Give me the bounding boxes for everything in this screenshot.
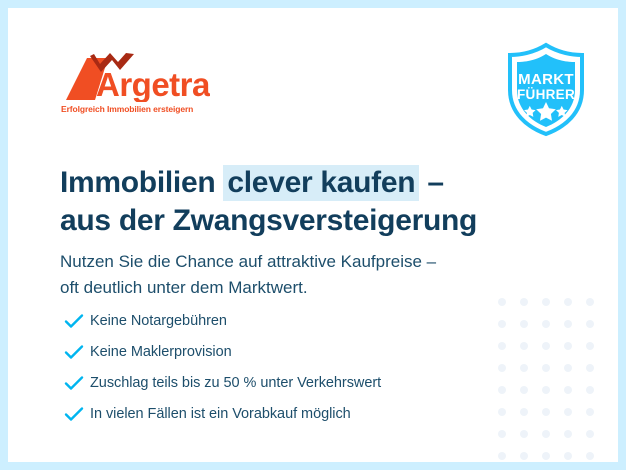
markt-fuehrer-badge: MARKT FÜHRER [497,40,595,138]
decorative-dot [542,430,550,438]
badge-line1-text: MARKT [518,71,574,88]
logo-tagline: Erfolgreich Immobilien ersteigern [61,104,193,114]
check-icon [64,373,90,393]
list-item-label: In vielen Fällen ist ein Vorabkauf mögli… [90,406,351,422]
decorative-dot [586,408,594,416]
check-icon [64,342,90,362]
banner-canvas: Argetra Erfolgreich Immobilien ersteiger… [0,0,626,470]
decorative-dot [564,386,572,394]
list-item-label: Keine Notargebühren [90,313,227,329]
decorative-dot [564,342,572,350]
list-item: Keine Notargebühren [64,305,544,336]
decorative-dot [498,430,506,438]
list-item: In vielen Fällen ist ein Vorabkauf mögli… [64,398,544,429]
banner-card: Argetra Erfolgreich Immobilien ersteiger… [8,8,618,462]
headline-highlight: clever kaufen [223,165,419,201]
list-item: Keine Maklerprovision [64,336,544,367]
decorative-dot [564,430,572,438]
list-item: Zuschlag teils bis zu 50 % unter Verkehr… [64,367,544,398]
benefits-list: Keine Notargebühren Keine Maklerprovisio… [64,305,544,429]
headline-suffix: – [419,166,443,199]
decorative-dot [586,298,594,306]
decorative-dot [542,452,550,460]
logo-wordmark-text: Argetra [96,66,210,102]
decorative-dot [586,342,594,350]
check-icon [64,311,90,331]
badge-line2-text: FÜHRER [517,87,575,102]
decorative-dot [564,408,572,416]
decorative-dot [564,320,572,328]
check-icon [64,404,90,424]
list-item-label: Zuschlag teils bis zu 50 % unter Verkehr… [90,375,381,391]
shield-badge-icon: MARKT FÜHRER [497,40,595,138]
decorative-dot [586,364,594,372]
argetra-logo-mark: Argetra [60,52,210,102]
headline: Immobilien clever kaufen – aus der Zwang… [60,164,580,240]
decorative-dot [498,452,506,460]
decorative-dot [586,452,594,460]
decorative-dot [564,452,572,460]
argetra-logo[interactable]: Argetra Erfolgreich Immobilien ersteiger… [60,52,210,118]
list-item-label: Keine Maklerprovision [90,344,232,360]
subheadline: Nutzen Sie die Chance auf attraktive Kau… [60,249,580,301]
subheadline-line-2: oft deutlich unter dem Marktwert. [60,275,580,301]
decorative-dot [586,430,594,438]
headline-line-2: aus der Zwangsversteigerung [60,202,580,240]
decorative-dot [520,452,528,460]
subheadline-line-1: Nutzen Sie die Chance auf attraktive Kau… [60,249,580,275]
decorative-dot [586,320,594,328]
decorative-dot [520,430,528,438]
decorative-dot [586,386,594,394]
headline-line-1: Immobilien clever kaufen – [60,164,580,202]
decorative-dot [564,364,572,372]
headline-prefix: Immobilien [60,166,223,199]
